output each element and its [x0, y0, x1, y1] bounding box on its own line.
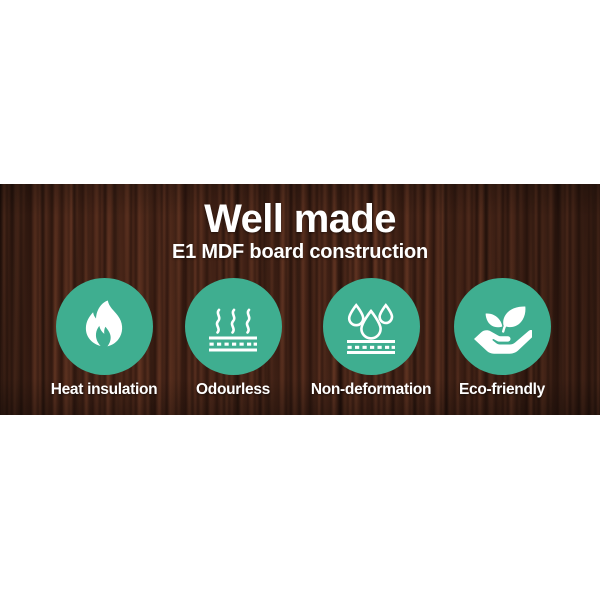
feature-item-eco-friendly: Eco-friendly	[427, 278, 577, 399]
feature-list: Heat insulation	[0, 278, 600, 398]
feature-disc	[454, 278, 551, 375]
feature-label: Odourless	[158, 381, 308, 399]
banner-title: Well made	[0, 199, 600, 239]
feature-banner: Well made E1 MDF board construction Heat…	[0, 184, 600, 415]
hand-holding-plant-icon	[472, 299, 532, 355]
feature-item-odourless: Odourless	[158, 278, 308, 399]
feature-disc	[56, 278, 153, 375]
feature-item-heat-insulation: Heat insulation	[29, 278, 179, 399]
odour-waves-board-icon	[204, 298, 262, 356]
water-drops-board-icon	[342, 298, 400, 356]
feature-label: Eco-friendly	[427, 381, 577, 399]
banner-subtitle: E1 MDF board construction	[0, 242, 600, 262]
feature-disc	[185, 278, 282, 375]
feature-label: Heat insulation	[29, 381, 179, 399]
flame-icon	[79, 299, 129, 355]
feature-label: Non-deformation	[296, 381, 446, 399]
feature-item-non-deformation: Non-deformation	[296, 278, 446, 399]
feature-disc	[323, 278, 420, 375]
